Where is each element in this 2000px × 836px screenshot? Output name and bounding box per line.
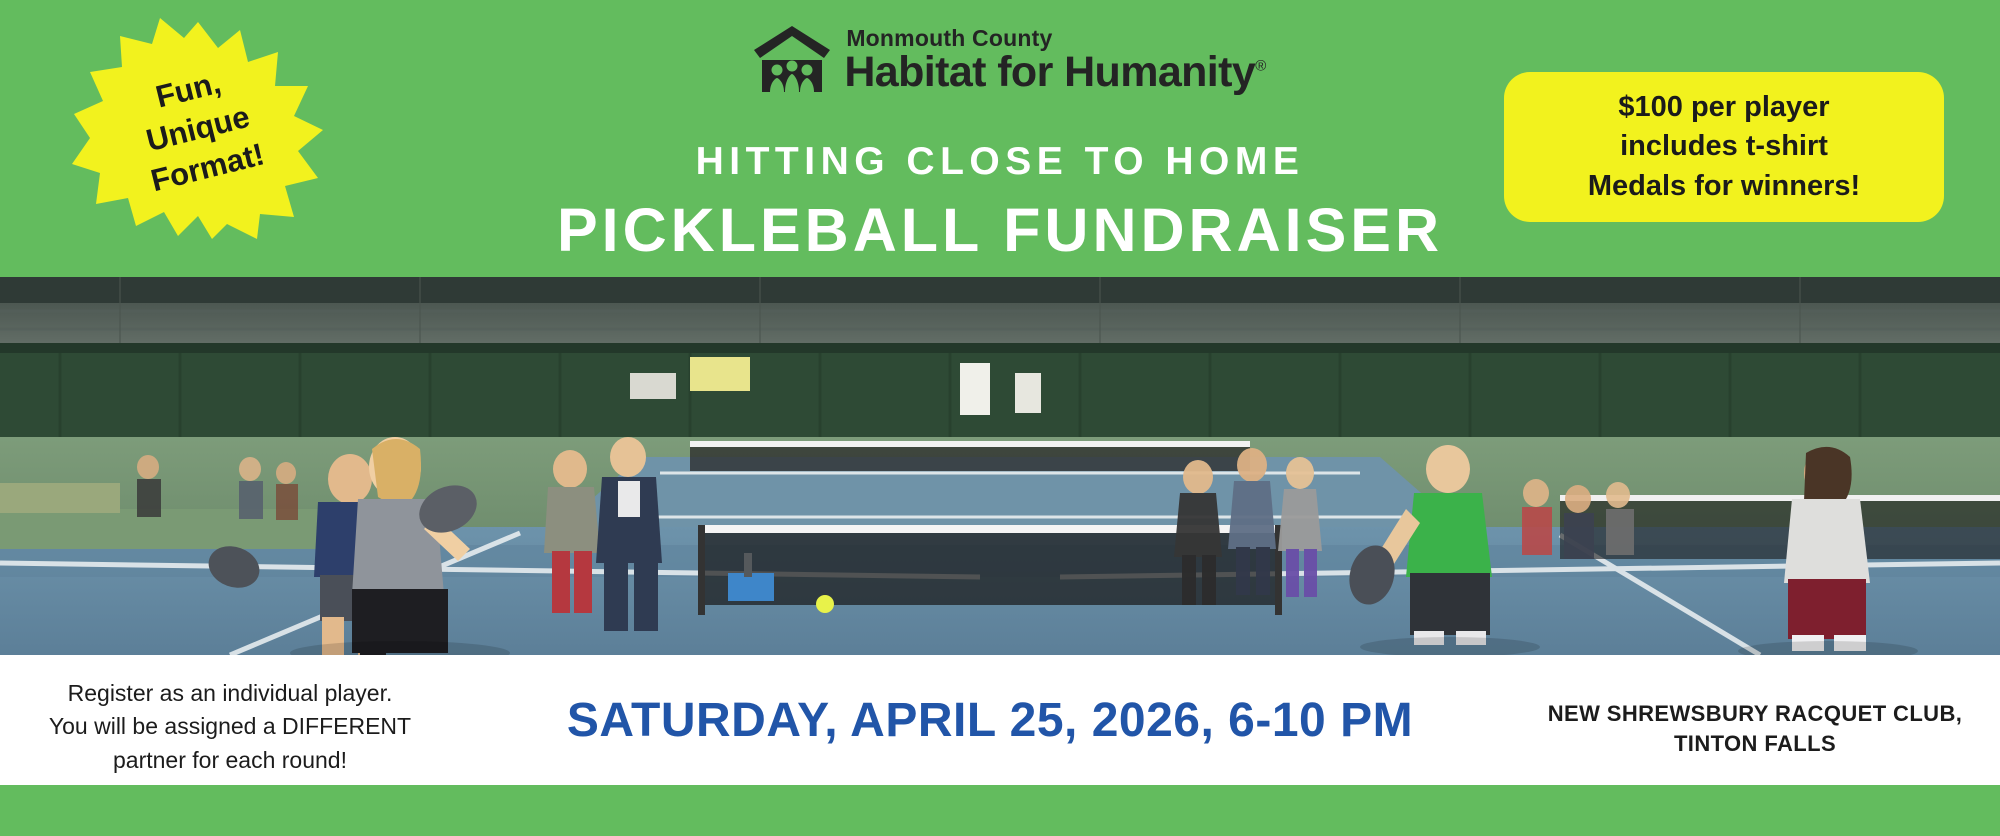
registered-trademark-icon: ® <box>1255 58 1265 75</box>
logo-row: Monmouth County Habitat for Humanity® <box>688 24 1328 94</box>
event-date-time: SATURDAY, APRIL 25, 2026, 6-10 PM <box>460 693 1520 748</box>
banner-footer: Register as an individual player. You wi… <box>0 655 2000 785</box>
price-line-2: includes t-shirt <box>1620 127 1828 166</box>
habitat-logo: Monmouth County Habitat for Humanity® <box>688 24 1328 94</box>
price-badge: $100 per player includes t-shirt Medals … <box>1504 72 1944 222</box>
logo-text: Monmouth County Habitat for Humanity® <box>844 26 1265 94</box>
bottom-green-strip <box>0 785 2000 836</box>
starburst-shape-icon <box>72 18 324 240</box>
venue-line-1: NEW SHREWSBURY RACQUET CLUB, <box>1530 699 1980 729</box>
fun-unique-format-badge: Fun, Unique Format! <box>72 18 324 240</box>
pickleball-court-photo <box>0 277 2000 655</box>
photo-illustration <box>0 277 2000 655</box>
registration-note-line-1: Register as an individual player. <box>20 677 440 710</box>
logo-org-name: Habitat for Humanity® <box>844 51 1265 94</box>
event-tagline: HITTING CLOSE TO HOME <box>500 140 1500 184</box>
event-venue: NEW SHREWSBURY RACQUET CLUB, TINTON FALL… <box>1530 699 1980 758</box>
venue-line-2: TINTON FALLS <box>1530 729 1980 759</box>
price-line-1: $100 per player <box>1618 88 1829 127</box>
event-banner: Fun, Unique Format! Monmouth <box>0 0 2000 836</box>
registration-note: Register as an individual player. You wi… <box>20 677 440 777</box>
registration-note-line-2: You will be assigned a DIFFERENT <box>20 710 440 743</box>
banner-header: Fun, Unique Format! Monmouth <box>0 0 2000 277</box>
price-line-3: Medals for winners! <box>1588 167 1860 206</box>
registration-note-line-3: partner for each round! <box>20 744 440 777</box>
event-title: PICKLEBALL FUNDRAISER <box>430 195 1570 265</box>
habitat-house-people-icon <box>750 24 834 94</box>
logo-county-line: Monmouth County <box>844 26 1265 50</box>
logo-org-name-text: Habitat for Humanity <box>844 48 1255 96</box>
